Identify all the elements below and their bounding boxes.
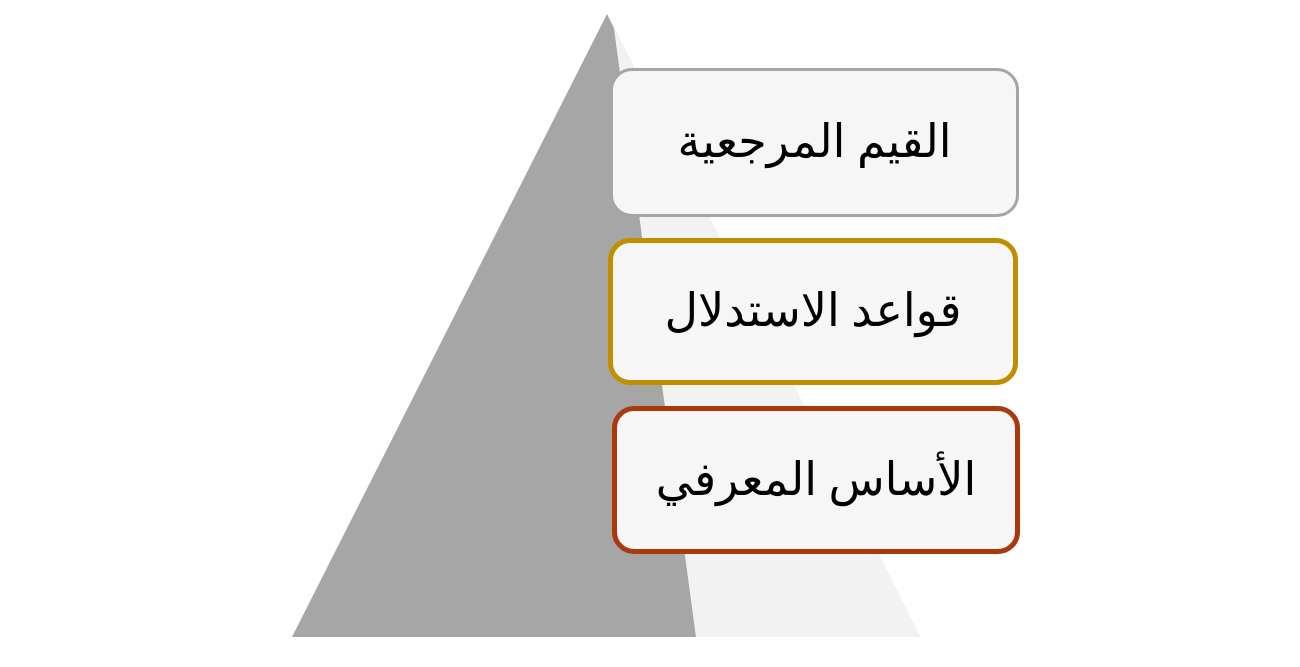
diagram-canvas: القيم المرجعية قواعد الاستدلال الأساس ال… [0,0,1300,667]
pyramid-level-label: الأساس المعرفي [656,454,977,507]
pyramid-level-label: القيم المرجعية [678,116,952,169]
pyramid-level-label: قواعد الاستدلال [665,285,962,338]
pyramid-level-reference-values[interactable]: القيم المرجعية [610,68,1019,217]
pyramid-level-inference-rules[interactable]: قواعد الاستدلال [608,238,1018,385]
pyramid-level-knowledge-foundation[interactable]: الأساس المعرفي [612,406,1020,554]
